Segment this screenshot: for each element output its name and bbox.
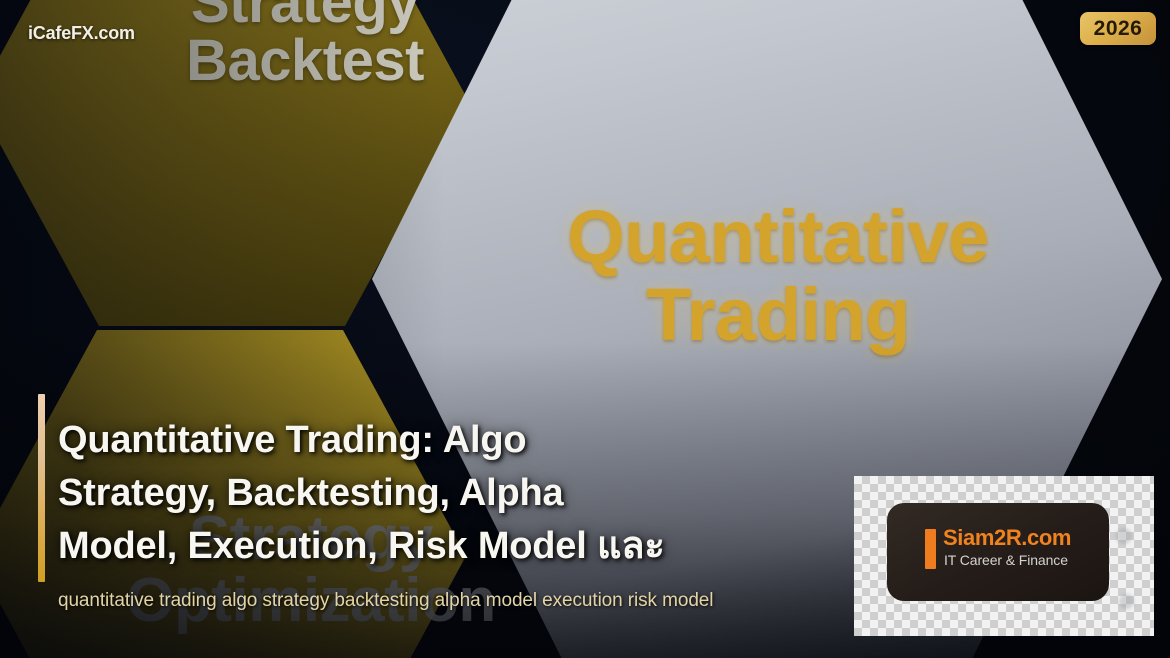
logo-plate: Siam2R.com IT Career & Finance Siam to R… bbox=[887, 503, 1109, 601]
hexagon-caption-strategy-backtest: Strategy Backtest bbox=[120, 0, 490, 90]
poster-canvas: Strategy Backtest Quantitative Trading S… bbox=[0, 0, 1170, 658]
site-watermark: iCafeFX.com bbox=[28, 23, 135, 44]
page-title-line-2: Strategy, Backtesting, Alpha bbox=[58, 467, 848, 520]
logo-name: Siam2R.com bbox=[943, 525, 1071, 551]
page-title: Quantitative Trading: Algo Strategy, Bac… bbox=[58, 414, 848, 573]
headline-accent-bar bbox=[38, 394, 45, 582]
page-title-line-1: Quantitative Trading: Algo bbox=[58, 414, 848, 467]
decor-disc-bottom bbox=[1119, 594, 1134, 609]
logo-bar-icon bbox=[925, 529, 936, 569]
year-badge: 2026 bbox=[1080, 12, 1156, 45]
sponsor-logo-card: Siam2R.com IT Career & Finance Siam to R… bbox=[854, 476, 1154, 636]
hexagon-caption-quantitative-trading: Quantitative Trading bbox=[498, 198, 1058, 353]
logo-tagline: IT Career & Finance bbox=[944, 552, 1068, 568]
decor-disc-top bbox=[1116, 528, 1132, 544]
page-title-line-3: Model, Execution, Risk Model และ bbox=[58, 520, 848, 573]
keyword-strip: quantitative trading algo strategy backt… bbox=[58, 590, 888, 612]
